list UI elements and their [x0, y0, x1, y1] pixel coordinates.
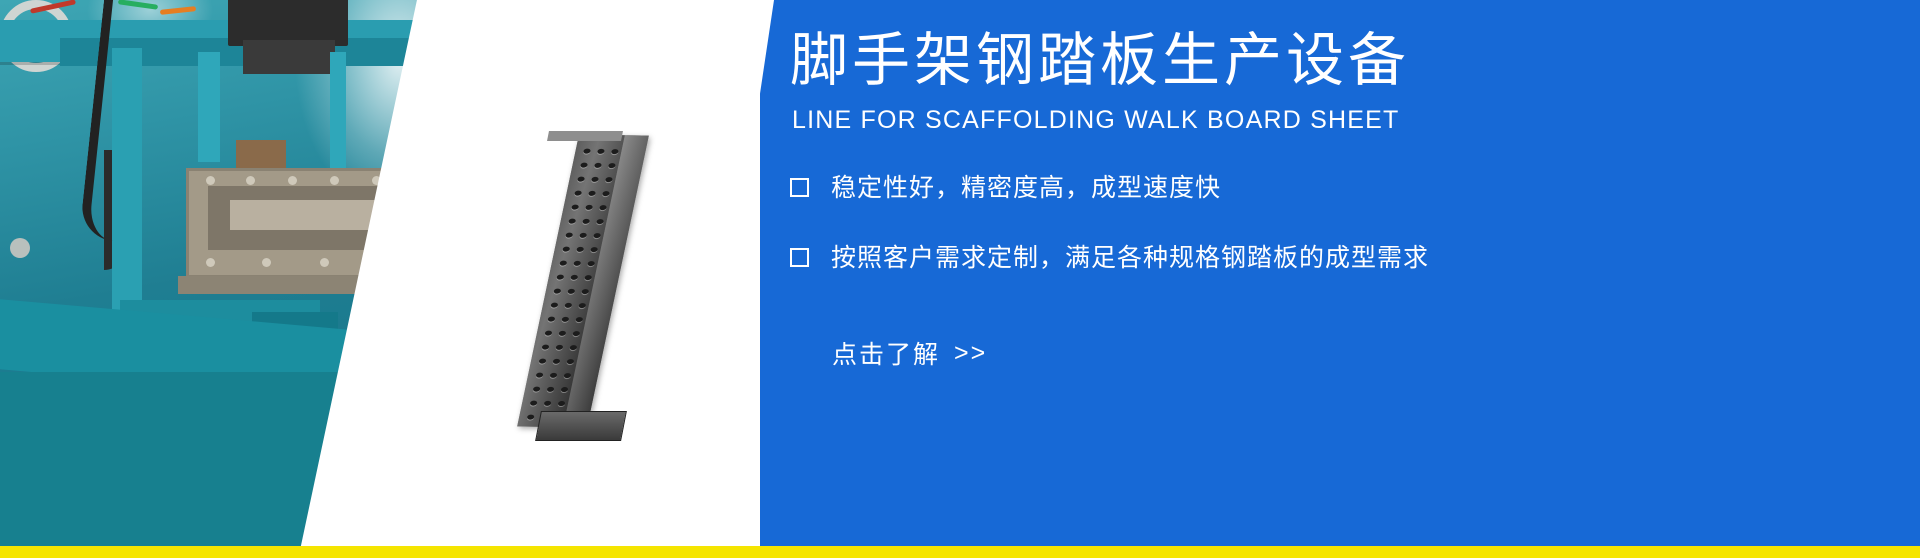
machine-post-b: [198, 52, 220, 162]
product-plank-hole: [547, 387, 555, 392]
product-plank-hole: [565, 233, 573, 238]
product-plank-end-cap: [535, 411, 627, 441]
product-plank-hole: [570, 275, 578, 280]
machine-bolt: [206, 258, 215, 267]
product-plank-hole: [573, 261, 581, 266]
machine-bolt: [320, 258, 329, 267]
product-plank-hole: [587, 261, 595, 266]
square-bullet-icon: [790, 178, 809, 197]
cta-label: 点击了解: [832, 335, 940, 371]
feature-item: 按照客户需求定制，满足各种规格钢踏板的成型需求: [790, 238, 1790, 274]
product-plank-hole: [582, 219, 590, 224]
product-plank-hole: [533, 387, 541, 392]
chevron-right-double-icon: >>: [954, 339, 987, 368]
product-plank-hole: [564, 303, 572, 308]
product-plank-hole: [574, 191, 582, 196]
product-plank-hole: [608, 163, 616, 168]
product-plank-hole: [599, 205, 607, 210]
product-plank-hole: [594, 163, 602, 168]
banner-subtitle: LINE FOR SCAFFOLDING WALK BOARD SHEET: [792, 106, 1399, 135]
product-plank-hole: [561, 317, 569, 322]
product-plank-hole: [558, 401, 566, 406]
feature-item-label: 按照客户需求定制，满足各种规格钢踏板的成型需求: [831, 238, 1429, 274]
product-plank-hole: [593, 233, 601, 238]
product-plank-hole: [588, 191, 596, 196]
product-plank-hole: [585, 205, 593, 210]
product-plank-top-lip: [547, 131, 623, 141]
product-plank-holes: [517, 134, 649, 427]
product-plank-hole: [596, 219, 604, 224]
machine-bolt: [246, 176, 255, 185]
product-plank-hole: [577, 177, 585, 182]
machine-bolt: [262, 258, 271, 267]
accent-bar: [0, 546, 1920, 558]
product-plank-hole: [580, 163, 588, 168]
machine-bolt: [330, 176, 339, 185]
promo-banner: 脚手架钢踏板生产设备 LINE FOR SCAFFOLDING WALK BOA…: [0, 0, 1920, 558]
product-plank-hole: [556, 275, 564, 280]
product-plank-hole: [567, 289, 575, 294]
product-plank-hole: [562, 247, 570, 252]
product-plank-body: [517, 134, 649, 427]
product-plank-hole: [590, 247, 598, 252]
product-plank-hole: [597, 149, 605, 154]
product-plank-hole: [553, 289, 561, 294]
product-plank-hole: [602, 191, 610, 196]
machine-gearbox: [243, 40, 335, 74]
product-plank-hole: [544, 401, 552, 406]
product-plank-hole: [571, 205, 579, 210]
product-plank-hole: [552, 359, 560, 364]
product-plank-hole: [566, 359, 574, 364]
product-plank-hole: [544, 331, 552, 336]
feature-list: 稳定性好，精密度高，成型速度快 按照客户需求定制，满足各种规格钢踏板的成型需求: [790, 168, 1790, 308]
product-plank-hole: [555, 345, 563, 350]
product-plank-hole: [572, 331, 580, 336]
machine-post-c: [330, 52, 346, 170]
product-plank-hole: [559, 261, 567, 266]
machine-handwheel-hub: [10, 238, 30, 258]
product-plank-hole: [583, 149, 591, 154]
product-plank-hole: [579, 233, 587, 238]
product-plank-hole: [576, 247, 584, 252]
machine-die-slot: [230, 200, 392, 230]
product-plank-hole: [539, 359, 547, 364]
product-plank-hole: [560, 387, 568, 392]
machine-copper-block: [236, 140, 286, 170]
product-plank-hole: [558, 331, 566, 336]
product-plank-hole: [563, 373, 571, 378]
product-plank-hole: [550, 303, 558, 308]
product-plank-hole: [584, 275, 592, 280]
square-bullet-icon: [790, 248, 809, 267]
machine-cable-lower: [104, 150, 128, 270]
product-plank-hole: [578, 303, 586, 308]
product-plank-hole: [591, 177, 599, 182]
product-plank-hole: [611, 149, 619, 154]
cta-link[interactable]: 点击了解 >>: [832, 335, 987, 371]
product-plank-hole: [568, 219, 576, 224]
product-plank-hole: [527, 415, 535, 420]
product-plank-hole: [547, 317, 555, 322]
feature-item: 稳定性好，精密度高，成型速度快: [790, 168, 1790, 204]
product-plank-hole: [575, 317, 583, 322]
product-plank-hole: [536, 373, 544, 378]
product-plank-hole: [605, 177, 613, 182]
machine-bolt: [288, 176, 297, 185]
machine-wire-orange: [160, 6, 196, 15]
product-plank-hole: [530, 401, 538, 406]
machine-bolt: [206, 176, 215, 185]
product-plank-hole: [541, 345, 549, 350]
product-plank-hole: [550, 373, 558, 378]
product-plank-hole: [581, 289, 589, 294]
feature-item-label: 稳定性好，精密度高，成型速度快: [831, 168, 1221, 204]
banner-content: 脚手架钢踏板生产设备 LINE FOR SCAFFOLDING WALK BOA…: [790, 0, 1890, 558]
product-photo: [520, 135, 700, 435]
banner-title: 脚手架钢踏板生产设备: [790, 32, 1410, 90]
product-plank-hole: [569, 345, 577, 350]
